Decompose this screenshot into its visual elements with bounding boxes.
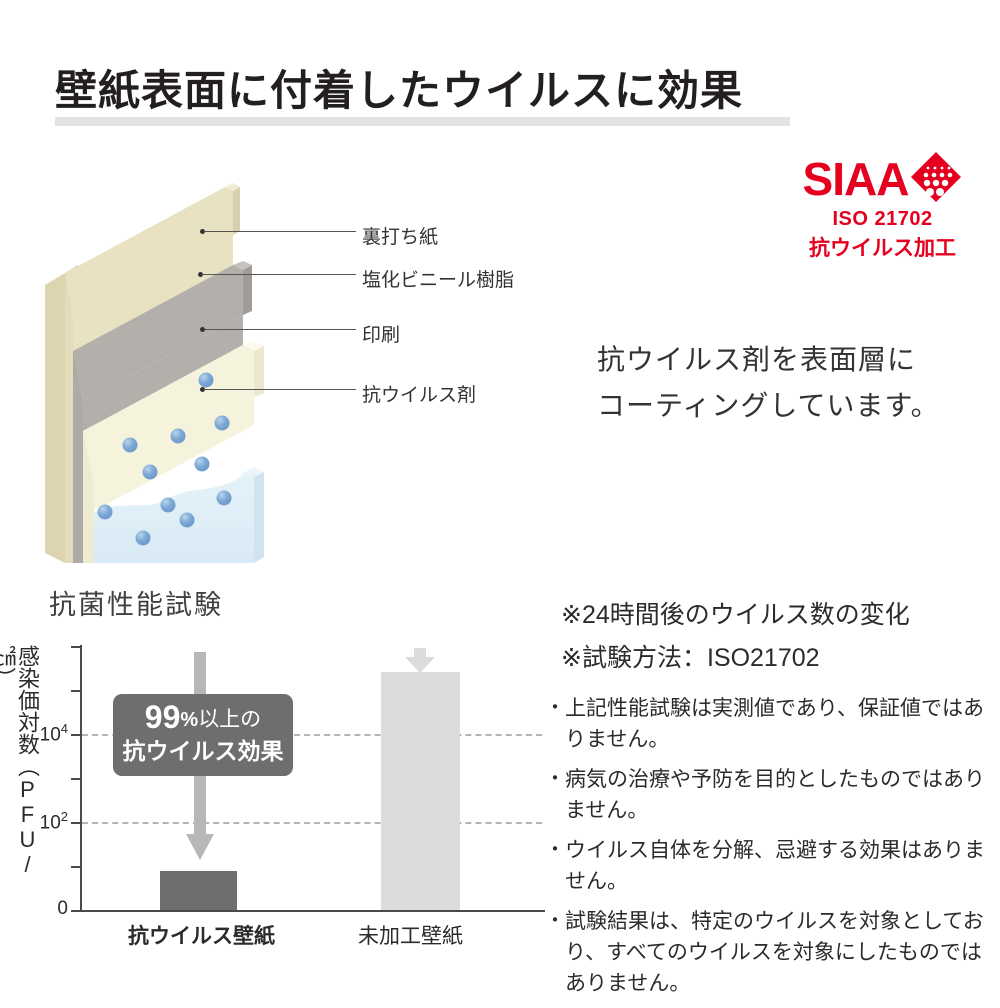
siaa-certification-logo: SIAA	[795, 152, 970, 262]
antiviral-particle	[171, 429, 186, 444]
wallpaper-cross-section-diagram	[40, 175, 350, 565]
coating-description-line1: 抗ウイルス剤を表面層に	[597, 337, 940, 383]
layer-label-vinyl-resin: 塩化ビニール樹脂	[362, 265, 514, 292]
notes-heading: ※24時間後のウイルス数の変化 ※試験方法：ISO21702	[561, 594, 910, 680]
chart-y-axis-title: 感染価対数（PFU/㎠）	[3, 645, 39, 905]
layer-label-antiviral-agent: 抗ウイルス剤	[362, 380, 476, 407]
list-item: ・ ウイルス自体を分解、忌避する効果はありません。	[545, 835, 995, 897]
antiviral-particle	[180, 513, 195, 528]
leader-line-printing	[204, 329, 356, 330]
bullet-icon: ・	[545, 835, 565, 866]
layer-label-backing-paper: 裏打ち紙	[362, 222, 438, 249]
antiviral-particle	[215, 416, 230, 431]
antiviral-particle	[143, 465, 158, 480]
antiviral-particle	[161, 498, 176, 513]
note-text: 病気の治療や予防を目的としたものではありません。	[565, 764, 995, 826]
list-item: ・ 試験結果は、特定のウイルスを対象としており、すべてのウイルスを対象にしたもの…	[545, 906, 995, 999]
leader-line-vinyl-resin	[202, 274, 356, 275]
page-title: 壁紙表面に付着したウイルスに効果	[55, 57, 743, 118]
y-tick-label-10e2-base: 10	[40, 812, 61, 833]
notes-heading-line1: ※24時間後のウイルス数の変化	[561, 594, 910, 637]
bar-label-untreated-wallpaper: 未加工壁紙	[358, 920, 463, 950]
y-tick-4	[71, 734, 81, 736]
list-item: ・ 上記性能試験は実測値であり、保証値ではありません。	[545, 693, 995, 755]
notes-heading-line2: ※試験方法：ISO21702	[561, 637, 910, 680]
bullet-icon: ・	[545, 764, 565, 795]
bar-label-antiviral-wallpaper: 抗ウイルス壁紙	[128, 920, 275, 950]
bullet-icon: ・	[545, 693, 565, 724]
y-tick-label-10e4-exponent: 4	[61, 721, 68, 736]
bullet-icon: ・	[545, 906, 565, 937]
chart-annotation-percent-sign: %	[180, 709, 198, 731]
antiviral-particle	[98, 505, 113, 520]
y-tick-minor-5	[71, 690, 81, 692]
siaa-wordmark-text: SIAA	[803, 152, 909, 206]
coating-description-line2: コーティングしています。	[597, 383, 940, 429]
chart-x-axis	[80, 910, 545, 912]
leader-line-backing-paper	[204, 231, 356, 232]
y-tick-label-10e2: 102	[16, 809, 68, 834]
siaa-antiviral-label: 抗ウイルス加工	[795, 232, 970, 262]
chart-title: 抗菌性能試験	[49, 583, 223, 622]
y-tick-minor-3	[71, 778, 81, 780]
y-tick-minor-6	[71, 646, 81, 648]
notes-list: ・ 上記性能試験は実測値であり、保証値ではありません。 ・ 病気の治療や予防を目…	[545, 693, 995, 1008]
layer-label-printing: 印刷	[362, 320, 400, 347]
y-tick-label-10e4: 104	[16, 721, 68, 746]
bar-untreated-wallpaper	[381, 672, 460, 910]
y-tick-label-10e4-base: 10	[40, 724, 61, 745]
siaa-iso-standard: ISO 21702	[795, 208, 970, 231]
y-tick-label-0: 0	[30, 898, 68, 920]
downward-arrow-icon-untreated	[404, 648, 436, 674]
chart-annotation-suffix: 以上の	[198, 708, 261, 731]
antiviral-particle	[136, 531, 151, 546]
y-tick-2	[71, 822, 81, 824]
antiviral-particle	[123, 438, 138, 453]
note-text: 試験結果は、特定のウイルスを対象としており、すべてのウイルスを対象にしたものでは…	[565, 906, 995, 999]
note-text: 上記性能試験は実測値であり、保証値ではありません。	[565, 693, 995, 755]
leader-line-antiviral-agent	[204, 389, 356, 390]
antiviral-particle	[199, 373, 214, 388]
title-underline	[55, 117, 790, 126]
list-item: ・ 病気の治療や予防を目的としたものではありません。	[545, 764, 995, 826]
coating-description: 抗ウイルス剤を表面層に コーティングしています。	[597, 337, 940, 429]
chart-annotation-badge: 99%以上の 抗ウイルス効果	[113, 694, 293, 776]
antiviral-particle	[195, 457, 210, 472]
chart-annotation-line2: 抗ウイルス効果	[113, 736, 293, 766]
antiviral-particle	[217, 491, 232, 506]
y-tick-label-10e2-exponent: 2	[61, 809, 68, 824]
siaa-diamond-icon	[910, 151, 962, 208]
y-tick-minor-1	[71, 866, 81, 868]
chart-annotation-line1: 99%以上の	[113, 701, 293, 736]
note-text: ウイルス自体を分解、忌避する効果はありません。	[565, 835, 995, 897]
chart-annotation-value: 99	[145, 699, 181, 735]
bar-antiviral-wallpaper	[160, 871, 237, 910]
y-tick-0	[71, 910, 81, 912]
gridline-10e2	[82, 822, 542, 824]
